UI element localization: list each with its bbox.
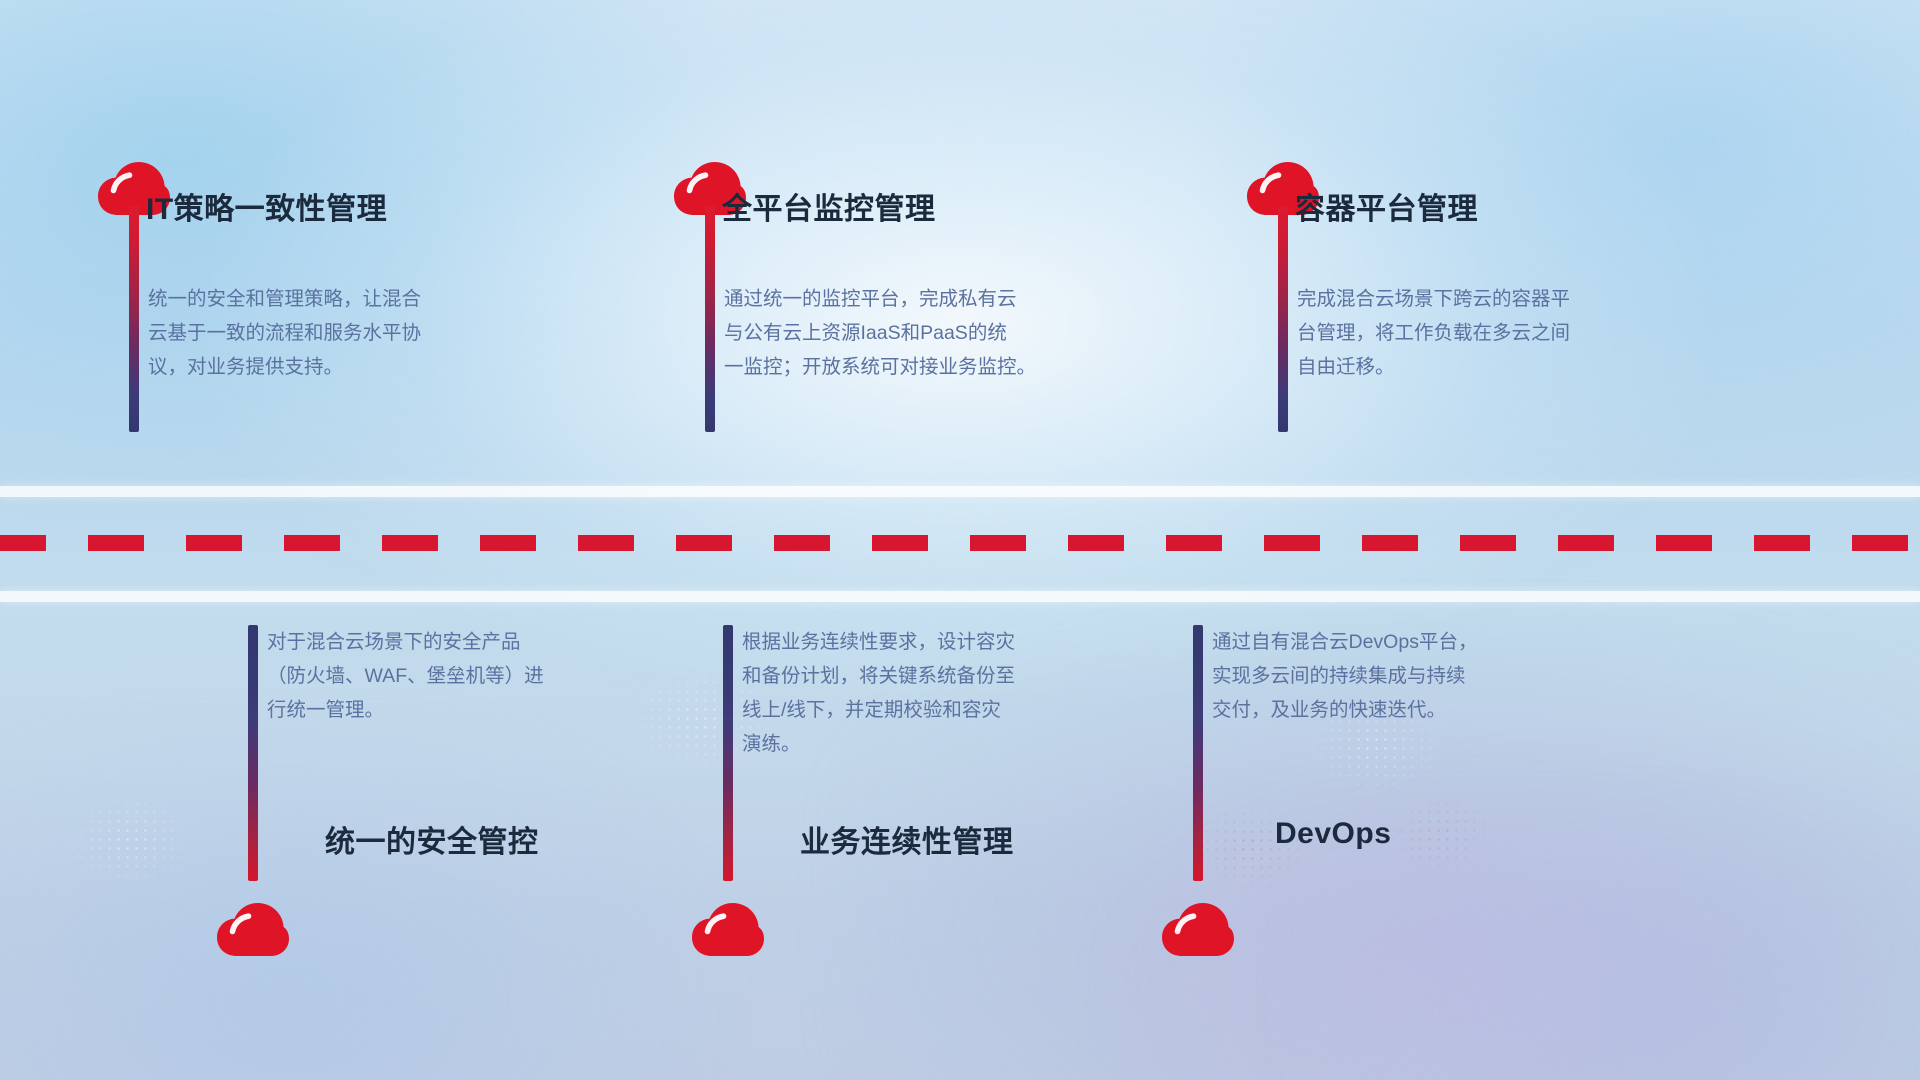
card-body-line: 实现多云间的持续集成与持续 <box>1212 659 1562 693</box>
road-divider <box>0 486 1920 602</box>
card-heading: IT策略一致性管理 <box>146 184 387 228</box>
road-line-top <box>0 486 1920 497</box>
card-heading: 统一的安全管控 <box>325 817 539 861</box>
road-dashed-line <box>0 535 1920 551</box>
connector-stem <box>1278 206 1288 432</box>
card-body-line: （防火墙、WAF、堡垒机等）进 <box>267 659 617 693</box>
cloud-pin-icon <box>1160 901 1236 961</box>
background-glow-bottomright <box>1280 760 1920 1080</box>
card-body-line: 议，对业务提供支持。 <box>148 350 498 384</box>
card-heading: 全平台监控管理 <box>722 184 936 228</box>
card-body-line: 根据业务连续性要求，设计容灾 <box>742 625 1092 659</box>
infographic-canvas: IT策略一致性管理 统一的安全和管理策略，让混合 云基于一致的流程和服务水平协 … <box>0 0 1920 1080</box>
card-body-line: 一监控；开放系统可对接业务监控。 <box>724 350 1094 384</box>
card-heading: 容器平台管理 <box>1295 184 1478 228</box>
card-body: 完成混合云场景下跨云的容器平 台管理，将工作负载在多云之间 自由迁移。 <box>1297 282 1647 384</box>
background-glow-bottomleft <box>0 720 720 1080</box>
road-line-bottom <box>0 591 1920 602</box>
connector-stem <box>1193 625 1203 881</box>
card-body-line: 行统一管理。 <box>267 693 617 727</box>
card-body-line: 和备份计划，将关键系统备份至 <box>742 659 1092 693</box>
cloud-pin-icon <box>690 901 766 961</box>
card-body-line: 通过自有混合云DevOps平台， <box>1212 625 1562 659</box>
decorative-dots <box>60 790 200 890</box>
connector-stem <box>723 625 733 881</box>
connector-stem <box>248 625 258 881</box>
card-body-line: 交付，及业务的快速迭代。 <box>1212 693 1562 727</box>
connector-stem <box>705 206 715 432</box>
card-body-line: 线上/线下，并定期校验和容灾 <box>742 693 1092 727</box>
card-body: 统一的安全和管理策略，让混合 云基于一致的流程和服务水平协 议，对业务提供支持。 <box>148 282 498 384</box>
card-heading: 业务连续性管理 <box>800 817 1014 861</box>
card-body-line: 完成混合云场景下跨云的容器平 <box>1297 282 1647 316</box>
decorative-dots <box>1380 790 1500 880</box>
card-body-line: 云基于一致的流程和服务水平协 <box>148 316 498 350</box>
card-body-line: 统一的安全和管理策略，让混合 <box>148 282 498 316</box>
card-body-line: 通过统一的监控平台，完成私有云 <box>724 282 1094 316</box>
connector-stem <box>129 206 139 432</box>
card-body-line: 对于混合云场景下的安全产品 <box>267 625 617 659</box>
card-body-line: 与公有云上资源IaaS和PaaS的统 <box>724 316 1094 350</box>
card-heading: DevOps <box>1275 817 1391 851</box>
cloud-pin-icon <box>215 901 291 961</box>
card-body: 通过统一的监控平台，完成私有云 与公有云上资源IaaS和PaaS的统 一监控；开… <box>724 282 1094 384</box>
card-body-line: 演练。 <box>742 727 1092 761</box>
card-body-line: 自由迁移。 <box>1297 350 1647 384</box>
card-body: 对于混合云场景下的安全产品 （防火墙、WAF、堡垒机等）进 行统一管理。 <box>267 625 617 727</box>
card-body-line: 台管理，将工作负载在多云之间 <box>1297 316 1647 350</box>
card-body: 根据业务连续性要求，设计容灾 和备份计划，将关键系统备份至 线上/线下，并定期校… <box>742 625 1092 761</box>
card-body: 通过自有混合云DevOps平台， 实现多云间的持续集成与持续 交付，及业务的快速… <box>1212 625 1562 727</box>
